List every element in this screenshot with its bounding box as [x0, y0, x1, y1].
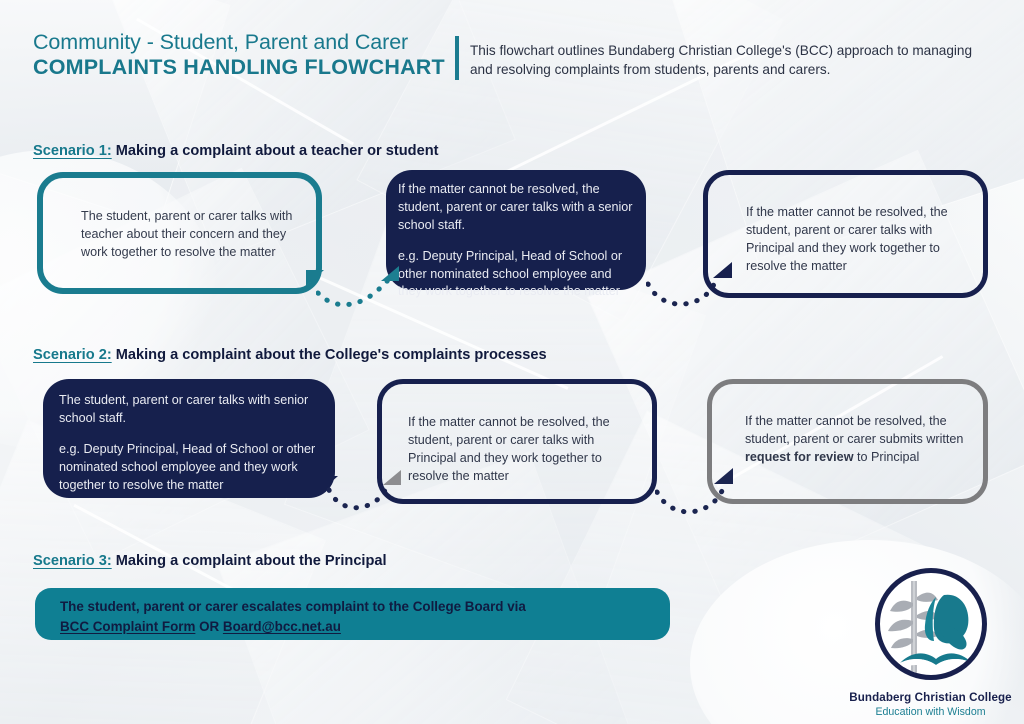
scenario-1-step-3-tail: [713, 262, 732, 278]
scenario-1-heading: Scenario 1: Making a complaint about a t…: [33, 143, 438, 159]
speech-bubble-gray-outline: If the matter cannot be resolved, the st…: [707, 379, 988, 504]
text-part-bold: request for review: [745, 450, 854, 464]
paragraph: The student, parent or carer talks with …: [59, 392, 325, 428]
scenario-1-label: Scenario 1:: [33, 143, 112, 159]
logo-college-name: Bundaberg Christian College: [843, 691, 1018, 704]
logo-emblem-icon: [875, 568, 987, 680]
scenario-1-step-3-text: If the matter cannot be resolved, the st…: [746, 204, 969, 276]
college-logo: Bundaberg Christian College Education wi…: [843, 568, 1018, 718]
scenario-2-step-1-text: The student, parent or carer talks with …: [59, 392, 325, 494]
scenario-2-label: Scenario 2:: [33, 347, 112, 363]
paragraph: e.g. Deputy Principal, Head of School or…: [59, 441, 325, 495]
scenario-3-step-1-text: The student, parent or carer escalates c…: [60, 597, 656, 637]
escalation-line-1: The student, parent or carer escalates c…: [60, 597, 656, 617]
paragraph: If the matter cannot be resolved, the st…: [745, 413, 971, 467]
joiner-text: OR: [195, 619, 223, 634]
board-email-link[interactable]: Board@bcc.net.au: [223, 619, 341, 634]
speech-bubble-navy-fill: If the matter cannot be resolved, the st…: [386, 170, 646, 290]
scenario-3-step-1[interactable]: The student, parent or carer escalates c…: [35, 588, 670, 640]
text-part: to Principal: [854, 450, 920, 464]
scenario-2-step-3[interactable]: If the matter cannot be resolved, the st…: [707, 379, 988, 504]
page-title-line1: Community - Student, Parent and Carer: [33, 30, 445, 55]
scenario-3-label: Scenario 3:: [33, 553, 112, 569]
scenario-3-title: Making a complaint about the Principal: [112, 553, 387, 569]
speech-bubble-teal-outline: The student, parent or carer talks with …: [37, 172, 322, 294]
scenario-2-step-2-text: If the matter cannot be resolved, the st…: [408, 414, 638, 486]
flowchart-page: Community - Student, Parent and Carer CO…: [0, 0, 1024, 724]
scenario-2-heading: Scenario 2: Making a complaint about the…: [33, 347, 547, 363]
speech-bubble-navy-outline: If the matter cannot be resolved, the st…: [703, 170, 988, 298]
scenario-1-step-1[interactable]: The student, parent or carer talks with …: [37, 172, 322, 294]
paragraph: e.g. Deputy Principal, Head of School or…: [398, 248, 636, 302]
header-description: This flowchart outlines Bundaberg Christ…: [470, 41, 990, 80]
scenario-2-step-3-tail: [714, 468, 733, 484]
page-title-line2: COMPLAINTS HANDLING FLOWCHART: [33, 55, 445, 80]
page-header: Community - Student, Parent and Carer CO…: [33, 30, 445, 80]
scenario-1-title: Making a complaint about a teacher or st…: [112, 143, 439, 159]
scenario-1-step-1-text: The student, parent or carer talks with …: [81, 208, 304, 262]
scenario-1-step-2-tail: [381, 266, 399, 281]
logo-tagline: Education with Wisdom: [843, 706, 1018, 718]
scenario-2-step-3-text: If the matter cannot be resolved, the st…: [745, 413, 971, 467]
scenario-1-step-2-text: If the matter cannot be resolved, the st…: [398, 181, 636, 301]
paragraph: If the matter cannot be resolved, the st…: [398, 181, 636, 235]
header-divider: [455, 36, 459, 80]
bcc-complaint-form-link[interactable]: BCC Complaint Form: [60, 619, 195, 634]
scenario-2-step-2-tail: [383, 470, 401, 485]
scenario-1-step-2[interactable]: If the matter cannot be resolved, the st…: [386, 170, 646, 290]
scenario-2-step-2[interactable]: If the matter cannot be resolved, the st…: [377, 379, 657, 504]
scenario-3-heading: Scenario 3: Making a complaint about the…: [33, 553, 387, 569]
speech-bubble-teal-fill: The student, parent or carer escalates c…: [35, 588, 670, 640]
scenario-1-step-3[interactable]: If the matter cannot be resolved, the st…: [703, 170, 988, 298]
scenario-2-step-1[interactable]: The student, parent or carer talks with …: [43, 379, 335, 498]
scenario-2-title: Making a complaint about the College's c…: [112, 347, 547, 363]
escalation-line-2: BCC Complaint Form OR Board@bcc.net.au: [60, 617, 656, 637]
text-part: If the matter cannot be resolved, the st…: [745, 414, 963, 446]
speech-bubble-navy-outline: If the matter cannot be resolved, the st…: [377, 379, 657, 504]
speech-bubble-navy-fill: The student, parent or carer talks with …: [43, 379, 335, 498]
